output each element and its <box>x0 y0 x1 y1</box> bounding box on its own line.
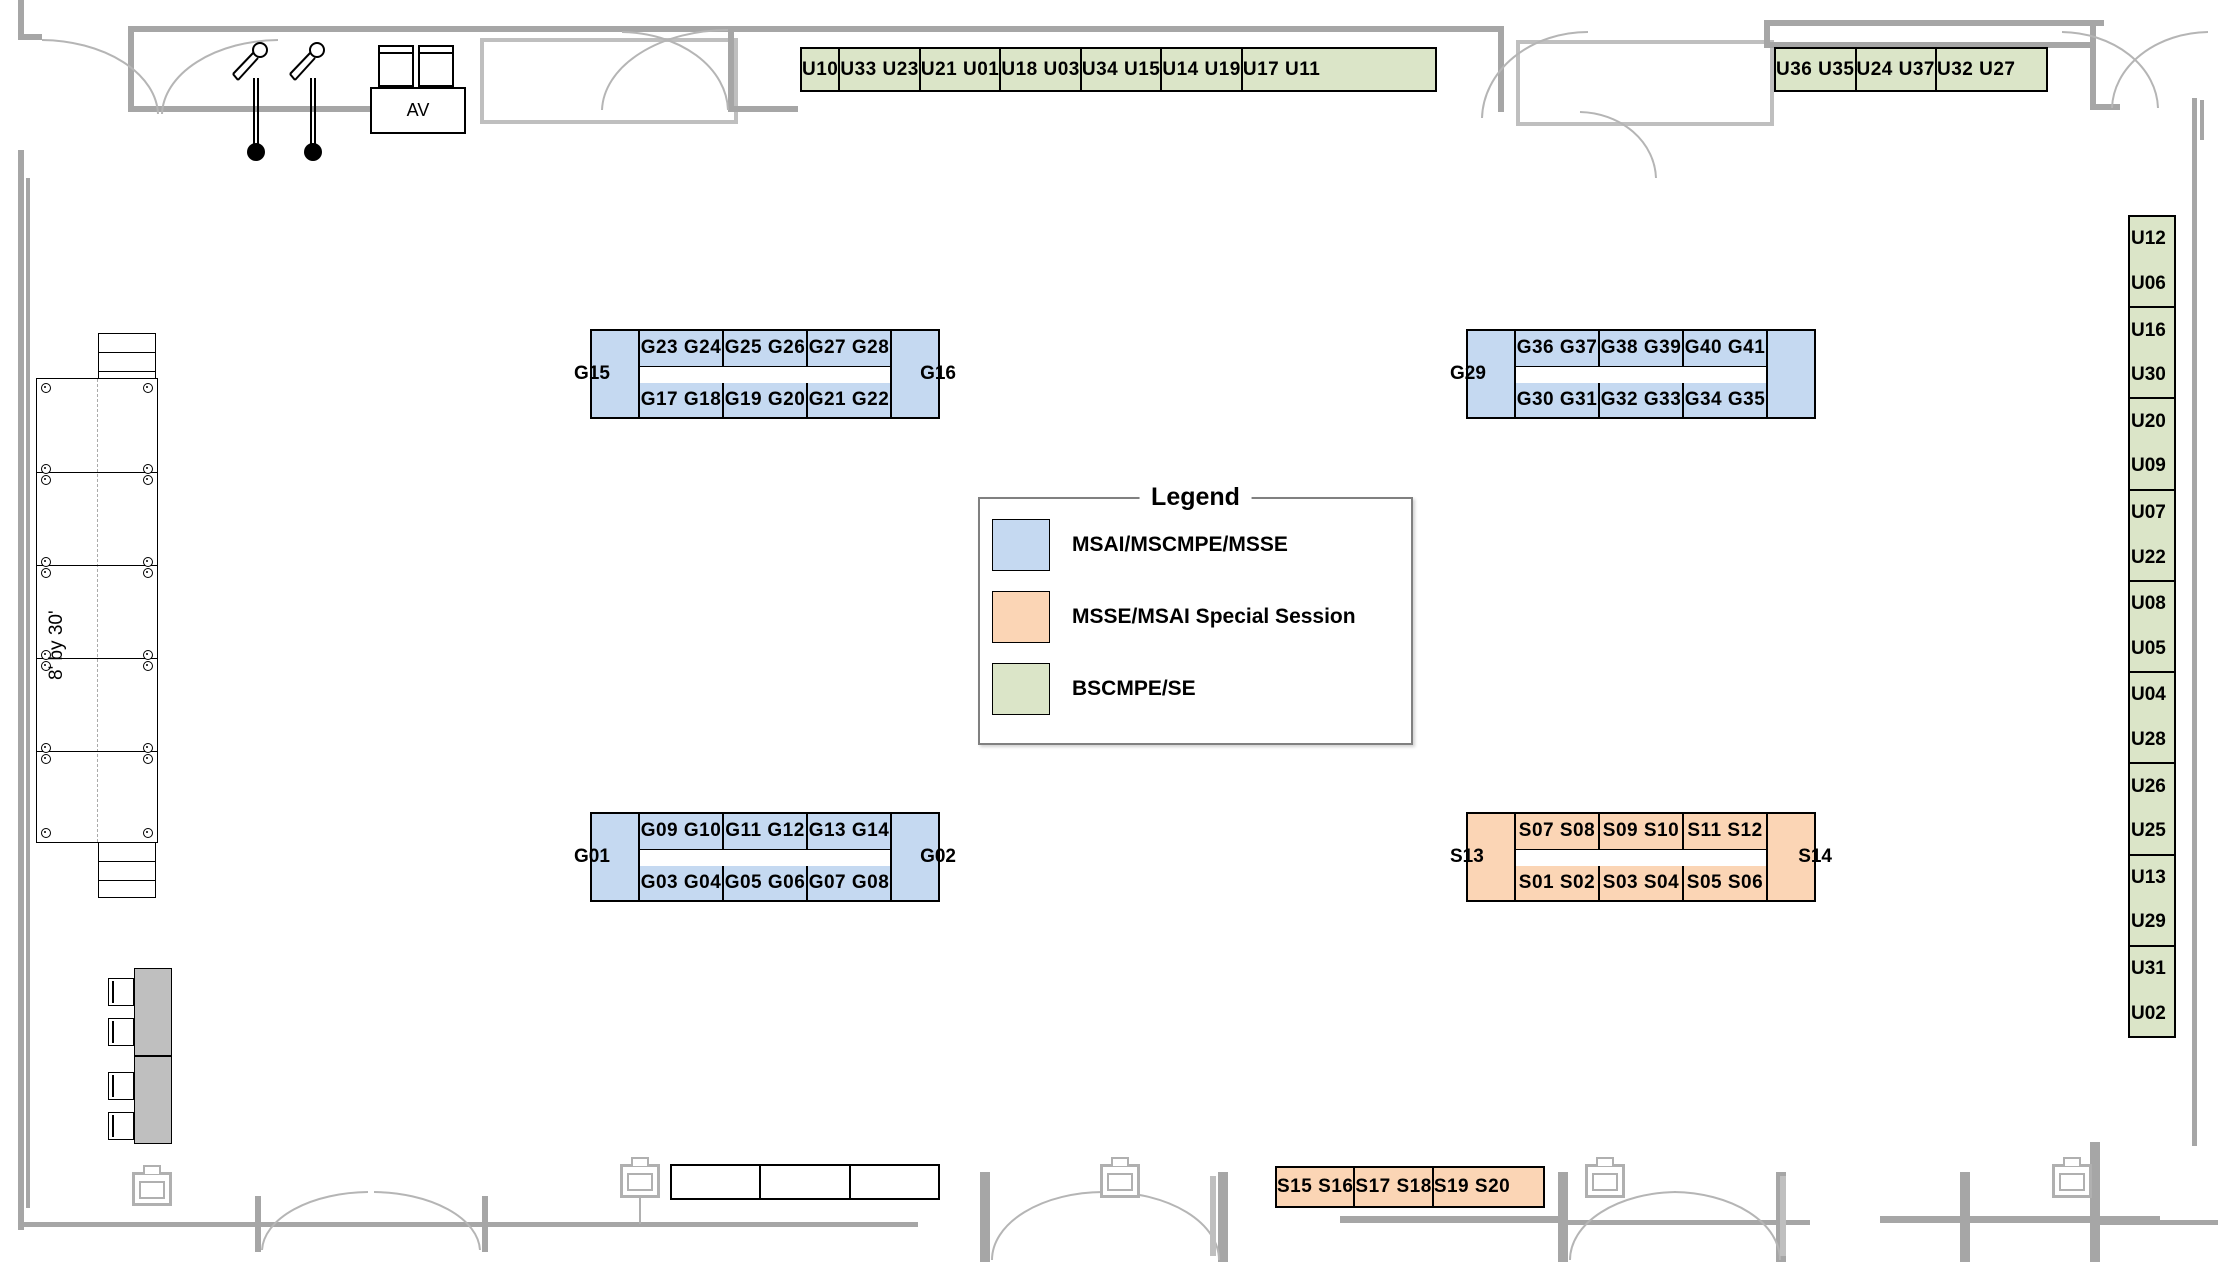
poster-strip-bottom-cell[interactable]: S15 S16 <box>1277 1168 1355 1206</box>
poster-island-lower-right-rows: S07 S08S09 S10S11 S12S01 S02S03 S04S05 S… <box>1514 814 1768 900</box>
poster-code: U29 <box>2131 911 2166 933</box>
poster-island-lower-right-left-cap[interactable]: S13 <box>1468 814 1514 900</box>
poster-island-upper-right-left-cap[interactable]: G29 <box>1468 331 1514 417</box>
poster-strip-right-cell[interactable]: U04U28 <box>2130 673 2174 764</box>
bottom-table <box>670 1164 940 1200</box>
poster-island-upper-left[interactable]: G15G23 G24G25 G26G27 G28G17 G18G19 G20G2… <box>590 329 940 419</box>
poster-strip-bottom-cell[interactable]: S17 S18 <box>1355 1168 1433 1206</box>
legend-rows: MSAI/MSCMPE/MSSEMSSE/MSAI Special Sessio… <box>980 519 1411 715</box>
poster-strip-bottom[interactable]: S15 S16S17 S18S19 S20 <box>1275 1166 1545 1208</box>
legend-item: MSAI/MSCMPE/MSSE <box>992 519 1411 571</box>
exit-sign-2 <box>620 1164 660 1198</box>
poster-strip-top-right-cell[interactable]: U24 U37 <box>1857 49 1938 90</box>
poster-code: U02 <box>2131 1003 2166 1025</box>
poster-island-upper-right-cell[interactable]: G30 G31 <box>1516 383 1600 418</box>
exit-sign-4 <box>1585 1164 1625 1198</box>
poster-code: U31 <box>2131 958 2166 980</box>
poster-strip-top[interactable]: U10U33 U23U21 U01U18 U03U34 U15U14 U19U1… <box>800 47 1437 92</box>
door-arc-top-alcove <box>620 30 730 112</box>
poster-code: U16 <box>2131 320 2166 342</box>
av-chair-left-back <box>378 45 414 54</box>
stage-segment-divider <box>37 565 157 566</box>
poster-island-upper-left-right-cap[interactable]: G16 <box>892 331 938 417</box>
door-arc-bottom-1 <box>260 1190 370 1252</box>
poster-code: U07 <box>2131 502 2166 524</box>
poster-island-lower-right-cell[interactable]: S03 S04 <box>1600 866 1684 901</box>
poster-strip-right-cell[interactable]: U12U06 <box>2130 217 2174 308</box>
poster-island-upper-left-cell[interactable]: G23 G24 <box>640 331 724 366</box>
microphone-stand-2 <box>285 42 329 164</box>
av-table: AV <box>370 87 466 134</box>
poster-island-lower-left-cell[interactable]: G07 G08 <box>808 866 892 901</box>
poster-strip-right-cell[interactable]: U07U22 <box>2130 491 2174 582</box>
poster-strip-right-cell[interactable]: U08U05 <box>2130 582 2174 673</box>
poster-island-lower-left-left-cap[interactable]: G01 <box>592 814 638 900</box>
bottom-table-segment <box>761 1166 850 1198</box>
poster-island-upper-right-top-row[interactable]: G36 G37G38 G39G40 G41 <box>1514 331 1768 367</box>
poster-island-upper-left-cell[interactable]: G17 G18 <box>640 383 724 418</box>
poster-strip-right-cell[interactable]: U20U09 <box>2130 399 2174 490</box>
poster-strip-top-right[interactable]: U36 U35U24 U37U32 U27 <box>1774 47 2048 92</box>
poster-island-upper-left-left-cap-label: G15 <box>574 363 610 385</box>
door-leaf-bottom-a <box>1210 1176 1216 1256</box>
poster-island-lower-right-aisle <box>1514 850 1768 866</box>
legend-item-label: MSSE/MSAI Special Session <box>1072 605 1356 629</box>
wall-bottom-seg5 <box>2098 1220 2218 1225</box>
poster-island-lower-right-cell[interactable]: S01 S02 <box>1516 866 1600 901</box>
door-arc-top-right-2 <box>2110 30 2210 110</box>
poster-island-lower-right-right-cap-label: S14 <box>1798 846 1832 868</box>
av-table-label: AV <box>407 100 430 121</box>
bottom-table-segment <box>672 1166 761 1198</box>
poster-island-upper-right-cell[interactable]: G36 G37 <box>1516 331 1600 366</box>
poster-island-lower-left-right-cap-label: G02 <box>920 846 956 868</box>
exit-sign-post-2 <box>639 1196 641 1224</box>
legend-swatch <box>992 591 1050 643</box>
poster-island-lower-left-cell[interactable]: G05 G06 <box>724 866 808 901</box>
door-arc-bottom-5 <box>1568 1190 1678 1262</box>
poster-island-upper-right-right-cap[interactable] <box>1768 331 1814 417</box>
stage-stack-bottom <box>98 842 156 898</box>
poster-island-upper-left-top-row[interactable]: G23 G24G25 G26G27 G28 <box>638 331 892 367</box>
wall-pilaster-3 <box>980 1172 990 1262</box>
poster-island-upper-left-aisle <box>638 367 892 383</box>
poster-code: U13 <box>2131 867 2166 889</box>
poster-code: U26 <box>2131 776 2166 798</box>
poster-island-upper-left-cell[interactable]: G25 G26 <box>724 331 808 366</box>
poster-strip-top-right-cell[interactable]: U36 U35 <box>1776 49 1857 90</box>
legend-item: MSSE/MSAI Special Session <box>992 591 1411 643</box>
exit-sign-3 <box>1100 1164 1140 1198</box>
poster-island-upper-right-bottom-row[interactable]: G30 G31G32 G33G34 G35 <box>1514 383 1768 418</box>
floor-plan-canvas: AV 8' by 30' <box>0 0 2219 1275</box>
poster-strip-top-right-cell[interactable]: U32 U27 <box>1937 49 2016 90</box>
poster-code: U30 <box>2131 364 2166 386</box>
wall-top-center-bottom <box>728 106 798 112</box>
wall-top-main <box>128 26 1498 32</box>
chair-2 <box>108 1018 134 1046</box>
poster-island-lower-right-cell[interactable]: S05 S06 <box>1684 866 1768 901</box>
poster-island-lower-left-aisle <box>638 850 892 866</box>
wall-left-upper <box>18 150 24 1230</box>
door-leaf-bottom-b <box>1780 1176 1786 1256</box>
poster-strip-top-cell[interactable]: U34 U15 <box>1082 49 1163 90</box>
legend-item-label: BSCMPE/SE <box>1072 677 1196 701</box>
poster-code: U20 <box>2131 411 2166 433</box>
poster-strip-top-cell[interactable]: U14 U19 <box>1162 49 1243 90</box>
stage-segment-divider <box>37 472 157 473</box>
door-arc-alcove-swing <box>1578 110 1658 180</box>
poster-strip-right-cell[interactable]: U13U29 <box>2130 856 2174 947</box>
poster-island-upper-left-right-cap-label: G16 <box>920 363 956 385</box>
wall-top-right-c <box>1764 20 2104 26</box>
poster-island-lower-left-cell[interactable]: G09 G10 <box>640 814 724 849</box>
av-chair-right-back <box>418 45 454 54</box>
door-arc-top-left-1 <box>40 38 160 116</box>
poster-island-lower-right-right-cap[interactable]: S14 <box>1768 814 1814 900</box>
poster-strip-top-cell[interactable]: U10 <box>802 49 840 90</box>
poster-island-lower-left-cell[interactable]: G03 G04 <box>640 866 724 901</box>
legend-swatch <box>992 663 1050 715</box>
poster-code: U09 <box>2131 455 2166 477</box>
wall-pilaster-8 <box>2090 1142 2100 1262</box>
grey-table-1 <box>134 968 172 1056</box>
poster-island-lower-left-left-cap-label: G01 <box>574 846 610 868</box>
poster-island-upper-right-cell[interactable]: G40 G41 <box>1684 331 1768 366</box>
poster-strip-top-cell[interactable]: U33 U23 <box>840 49 921 90</box>
wall-pilaster-2 <box>482 1196 488 1252</box>
poster-island-upper-right-cell[interactable]: G34 G35 <box>1684 383 1768 418</box>
wall-right-outer <box>2192 98 2197 1146</box>
poster-island-lower-left-bottom-row[interactable]: G03 G04G05 G06G07 G08 <box>638 866 892 901</box>
grey-table-2 <box>134 1056 172 1144</box>
bottom-table-segment <box>851 1166 938 1198</box>
poster-island-upper-right-rows: G36 G37G38 G39G40 G41G30 G31G32 G33G34 G… <box>1514 331 1768 417</box>
poster-code: U05 <box>2131 638 2166 660</box>
door-arc-top-right-alcove <box>1480 30 1590 120</box>
poster-island-upper-right-left-cap-label: G29 <box>1450 363 1486 385</box>
chair-3 <box>108 1072 134 1100</box>
poster-code: U08 <box>2131 593 2166 615</box>
poster-island-upper-right-aisle <box>1514 367 1768 383</box>
poster-island-upper-left-left-cap[interactable]: G15 <box>592 331 638 417</box>
poster-strip-right-cell[interactable]: U16U30 <box>2130 308 2174 399</box>
poster-strip-right-cell[interactable]: U26U25 <box>2130 764 2174 855</box>
poster-island-lower-right-cell[interactable]: S09 S10 <box>1600 814 1684 849</box>
poster-island-lower-right-left-cap-label: S13 <box>1450 846 1484 868</box>
poster-strip-bottom-cell[interactable]: S19 S20 <box>1434 1168 1510 1206</box>
poster-island-upper-right-cell[interactable]: G32 G33 <box>1600 383 1684 418</box>
legend-item-label: MSAI/MSCMPE/MSSE <box>1072 533 1288 557</box>
poster-code: U06 <box>2131 273 2166 295</box>
wall-pilaster-5 <box>1558 1172 1568 1262</box>
poster-strip-right-vertical[interactable]: U12U06U16U30U20U09U07U22U08U05U04U28U26U… <box>2128 215 2176 1038</box>
stage-segment-divider <box>37 751 157 752</box>
stage-dimension-label: 8' by 30' <box>46 610 68 680</box>
poster-island-upper-left-cell[interactable]: G21 G22 <box>808 383 892 418</box>
wall-pilaster-7 <box>1960 1172 1970 1262</box>
poster-island-lower-left[interactable]: G01G09 G10G11 G12G13 G14G03 G04G05 G06G0… <box>590 812 940 902</box>
exit-sign-5 <box>2052 1164 2092 1198</box>
wall-bottom-seg2 <box>1340 1216 1560 1223</box>
wall-top-left-jog <box>18 34 42 40</box>
stage-centerline <box>97 379 98 842</box>
poster-code: U25 <box>2131 820 2166 842</box>
poster-island-lower-left-right-cap[interactable]: G02 <box>892 814 938 900</box>
poster-island-upper-left-cell[interactable]: G27 G28 <box>808 331 892 366</box>
poster-island-lower-right[interactable]: S13S07 S08S09 S10S11 S12S01 S02S03 S04S0… <box>1466 812 1816 902</box>
exit-sign-1 <box>132 1172 172 1206</box>
poster-code: U04 <box>2131 684 2166 706</box>
poster-island-upper-left-cell[interactable]: G19 G20 <box>724 383 808 418</box>
poster-code: U12 <box>2131 228 2166 250</box>
poster-island-lower-left-cell[interactable]: G13 G14 <box>808 814 892 849</box>
chair-1 <box>108 978 134 1006</box>
legend-panel: Legend MSAI/MSCMPE/MSSEMSSE/MSAI Special… <box>978 497 1413 745</box>
poster-strip-top-cell[interactable]: U17 U11 <box>1243 49 1320 90</box>
legend-item: BSCMPE/SE <box>992 663 1411 715</box>
poster-island-lower-right-cell[interactable]: S07 S08 <box>1516 814 1600 849</box>
poster-strip-top-cell[interactable]: U18 U03 <box>1001 49 1082 90</box>
poster-code: U28 <box>2131 729 2166 751</box>
poster-island-upper-left-bottom-row[interactable]: G17 G18G19 G20G21 G22 <box>638 383 892 418</box>
poster-island-upper-right-cell[interactable]: G38 G39 <box>1600 331 1684 366</box>
chair-4 <box>108 1112 134 1140</box>
poster-island-upper-right[interactable]: G29G36 G37G38 G39G40 G41G30 G31G32 G33G3… <box>1466 329 1816 419</box>
door-arc-bottom-2 <box>372 1190 482 1252</box>
poster-island-lower-right-cell[interactable]: S11 S12 <box>1684 814 1768 849</box>
legend-title: Legend <box>1139 483 1252 512</box>
wall-left-inner <box>26 178 30 1208</box>
legend-swatch <box>992 519 1050 571</box>
poster-strip-right-cell[interactable]: U31U02 <box>2130 947 2174 1036</box>
door-arc-bottom-6 <box>1672 1190 1782 1262</box>
poster-code: U22 <box>2131 547 2166 569</box>
poster-island-lower-right-top-row[interactable]: S07 S08S09 S10S11 S12 <box>1514 814 1768 850</box>
poster-strip-top-cell[interactable]: U21 U01 <box>921 49 1002 90</box>
microphone-stand-1 <box>228 42 272 164</box>
poster-island-lower-left-rows: G09 G10G11 G12G13 G14G03 G04G05 G06G07 G… <box>638 814 892 900</box>
door-arc-bottom-3 <box>990 1190 1105 1262</box>
door-arc-bottom-4 <box>1106 1190 1221 1262</box>
poster-island-lower-left-top-row[interactable]: G09 G10G11 G12G13 G14 <box>638 814 892 850</box>
poster-island-lower-left-cell[interactable]: G11 G12 <box>724 814 808 849</box>
poster-island-lower-right-bottom-row[interactable]: S01 S02S03 S04S05 S06 <box>1514 866 1768 901</box>
poster-island-upper-left-rows: G23 G24G25 G26G27 G28G17 G18G19 G20G21 G… <box>638 331 892 417</box>
